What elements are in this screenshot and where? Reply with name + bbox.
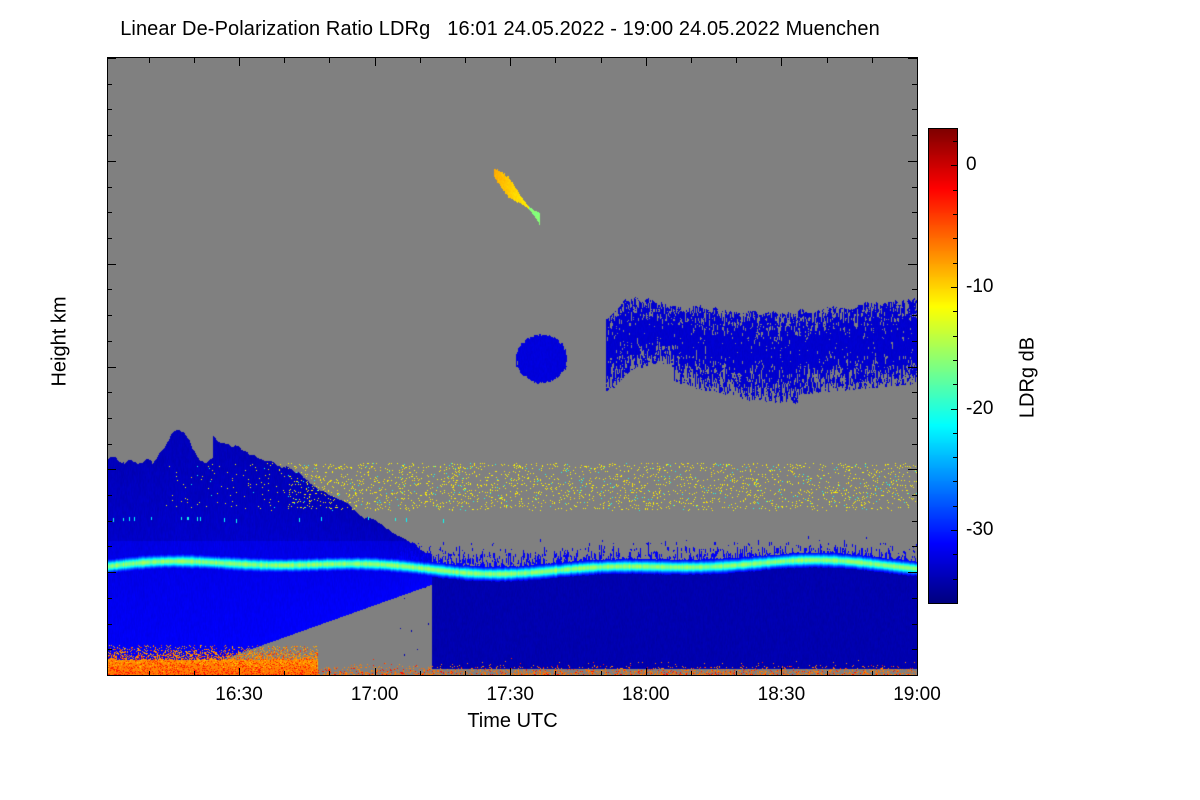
x-tick-minor xyxy=(149,671,150,676)
y-tick-minor-right xyxy=(912,392,917,393)
x-tick-minor-top xyxy=(872,58,873,63)
y-tick-major-right xyxy=(908,367,917,368)
y-tick-major-right xyxy=(908,264,917,265)
x-tick-minor xyxy=(872,671,873,676)
x-tick-label: 17:30 xyxy=(465,684,555,706)
x-tick-label: 17:00 xyxy=(330,684,420,706)
y-tick-minor xyxy=(107,649,112,650)
y-axis-label: Height km xyxy=(49,242,72,442)
x-tick-minor xyxy=(555,671,556,676)
x-tick-major xyxy=(375,668,376,676)
colorbar-tick-minor xyxy=(953,457,958,458)
y-tick-minor-right xyxy=(912,135,917,136)
x-tick-minor-top xyxy=(555,58,556,63)
y-tick-minor-right xyxy=(912,546,917,547)
colorbar-tick-minor xyxy=(953,190,958,191)
x-tick-minor xyxy=(827,671,828,676)
page-title: Linear De-Polarization Ratio LDRg 16:01 … xyxy=(0,18,1000,41)
colorbar-tick-major xyxy=(951,165,958,166)
y-tick-minor-right xyxy=(912,315,917,316)
y-tick-minor-right xyxy=(912,624,917,625)
y-tick-minor xyxy=(107,521,112,522)
x-tick-major xyxy=(239,668,240,676)
x-tick-minor-top xyxy=(736,58,737,63)
y-tick-major xyxy=(107,161,116,162)
y-tick-minor xyxy=(107,238,112,239)
colorbar-tick-label: -30 xyxy=(966,519,993,541)
colorbar-title: LDRg dB xyxy=(1017,268,1040,488)
x-tick-major-top xyxy=(375,58,376,66)
y-tick-minor xyxy=(107,109,112,110)
colorbar-tick-major xyxy=(951,287,958,288)
colorbar-tick-minor xyxy=(953,360,958,361)
colorbar-tick-minor xyxy=(953,579,958,580)
x-tick-minor-top xyxy=(465,58,466,63)
y-tick-minor xyxy=(107,341,112,342)
y-tick-major xyxy=(107,469,116,470)
y-tick-major-right xyxy=(908,675,917,676)
x-tick-minor xyxy=(736,671,737,676)
y-tick-minor-right xyxy=(912,84,917,85)
y-tick-minor xyxy=(107,289,112,290)
x-tick-minor xyxy=(420,671,421,676)
colorbar-tick-minor xyxy=(953,311,958,312)
colorbar-tick-label: -10 xyxy=(966,276,993,298)
y-tick-major xyxy=(107,58,116,59)
y-tick-minor-right xyxy=(912,187,917,188)
x-tick-minor-top xyxy=(827,58,828,63)
x-tick-label: 19:00 xyxy=(872,684,962,706)
y-tick-minor-right xyxy=(912,598,917,599)
colorbar-tick-minor xyxy=(953,433,958,434)
x-tick-minor xyxy=(284,671,285,676)
y-tick-minor xyxy=(107,495,112,496)
colorbar-tick-label: -20 xyxy=(966,398,993,420)
colorbar-tick-major xyxy=(951,530,958,531)
colorbar-tick-minor xyxy=(953,263,958,264)
x-tick-minor-top xyxy=(194,58,195,63)
x-tick-minor-top xyxy=(420,58,421,63)
colorbar-tick-minor xyxy=(953,554,958,555)
x-tick-major xyxy=(781,668,782,676)
y-tick-minor-right xyxy=(912,341,917,342)
colorbar-tick-minor xyxy=(953,506,958,507)
x-axis-label: Time UTC xyxy=(107,710,918,733)
y-tick-minor-right xyxy=(912,109,917,110)
y-tick-minor-right xyxy=(912,649,917,650)
x-tick-minor-top xyxy=(601,58,602,63)
x-tick-major-top xyxy=(510,58,511,66)
y-tick-minor xyxy=(107,392,112,393)
x-tick-major-top xyxy=(646,58,647,66)
x-tick-minor xyxy=(329,671,330,676)
y-tick-minor-right xyxy=(912,238,917,239)
radar-plot-page: Linear De-Polarization Ratio LDRg 16:01 … xyxy=(0,0,1200,800)
y-tick-minor xyxy=(107,135,112,136)
x-tick-minor-top xyxy=(284,58,285,63)
y-tick-minor xyxy=(107,444,112,445)
x-tick-major xyxy=(510,668,511,676)
y-tick-minor xyxy=(107,546,112,547)
y-tick-minor-right xyxy=(912,444,917,445)
colorbar xyxy=(928,128,958,604)
y-tick-minor-right xyxy=(912,289,917,290)
x-tick-label: 18:30 xyxy=(736,684,826,706)
y-tick-major-right xyxy=(908,572,917,573)
y-tick-major xyxy=(107,367,116,368)
x-tick-minor xyxy=(601,671,602,676)
colorbar-tick-minor xyxy=(953,603,958,604)
y-tick-major xyxy=(107,264,116,265)
colorbar-tick-minor xyxy=(953,238,958,239)
x-tick-major xyxy=(646,668,647,676)
x-tick-major-top xyxy=(781,58,782,66)
x-tick-label: 16:30 xyxy=(194,684,284,706)
y-tick-minor-right xyxy=(912,495,917,496)
y-tick-minor xyxy=(107,212,112,213)
x-tick-minor xyxy=(465,671,466,676)
x-tick-minor xyxy=(194,671,195,676)
colorbar-tick-minor xyxy=(953,214,958,215)
colorbar-tick-minor xyxy=(953,384,958,385)
y-tick-minor-right xyxy=(912,418,917,419)
colorbar-tick-minor xyxy=(953,336,958,337)
colorbar-tick-major xyxy=(951,409,958,410)
y-tick-major-right xyxy=(908,469,917,470)
y-tick-major xyxy=(107,572,116,573)
x-tick-major-top xyxy=(917,58,918,66)
y-tick-major-right xyxy=(908,161,917,162)
colorbar-tick-minor xyxy=(953,481,958,482)
radar-heatmap-canvas xyxy=(108,58,917,675)
y-tick-minor xyxy=(107,418,112,419)
y-tick-major-right xyxy=(908,58,917,59)
x-tick-label: 18:00 xyxy=(601,684,691,706)
y-tick-minor xyxy=(107,84,112,85)
y-tick-minor xyxy=(107,624,112,625)
y-tick-minor-right xyxy=(912,521,917,522)
x-tick-minor-top xyxy=(691,58,692,63)
y-tick-minor xyxy=(107,187,112,188)
colorbar-tick-label: 0 xyxy=(966,154,977,176)
x-tick-major-top xyxy=(239,58,240,66)
colorbar-gradient xyxy=(929,129,957,603)
x-tick-minor-top xyxy=(329,58,330,63)
y-tick-minor xyxy=(107,315,112,316)
y-tick-minor-right xyxy=(912,212,917,213)
x-tick-minor xyxy=(691,671,692,676)
x-tick-minor-top xyxy=(149,58,150,63)
x-tick-major xyxy=(917,668,918,676)
colorbar-tick-minor xyxy=(953,141,958,142)
plot-area xyxy=(107,57,918,676)
y-tick-minor xyxy=(107,598,112,599)
y-tick-major xyxy=(107,675,116,676)
